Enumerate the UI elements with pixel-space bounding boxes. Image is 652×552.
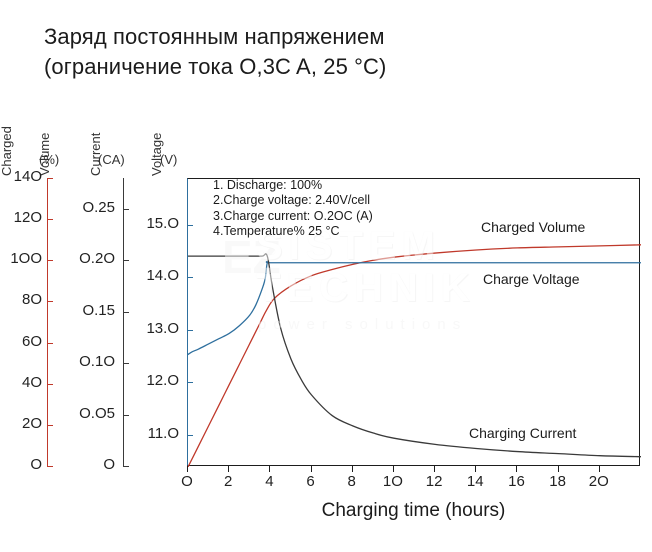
- condition-item-1: 1. Discharge: 100%: [213, 178, 373, 193]
- x-tick-label: 2O: [584, 473, 614, 490]
- y-tick-label-current: O.1O: [60, 353, 115, 370]
- y-tick-label-current: O.15: [60, 302, 115, 319]
- series-label-charge-voltage: Charge Voltage: [483, 271, 580, 287]
- x-tick-label: 16: [501, 473, 531, 490]
- y-tick-charged-volume: [47, 466, 53, 467]
- condition-item-4: 4.Temperature% 25 °C: [213, 224, 373, 239]
- x-tick-label: 14: [460, 473, 490, 490]
- y-tick-charged-volume: [47, 219, 53, 220]
- y-tick-label-charged-volume: O: [0, 456, 42, 473]
- x-tick-label: 4: [254, 473, 284, 490]
- y-tick-label-current: O.25: [60, 199, 115, 216]
- x-tick-label: 18: [543, 473, 573, 490]
- y-axis-line-charged-volume: [47, 178, 48, 466]
- y-tick-label-current: O.2O: [60, 250, 115, 267]
- y-tick-charged-volume: [47, 425, 53, 426]
- y-tick-label-voltage: 12.O: [131, 372, 179, 389]
- x-tick-label: 12: [419, 473, 449, 490]
- y-tick-label-charged-volume: 8O: [0, 291, 42, 308]
- page-title-line-1: Заряд постоянным напряжением: [44, 22, 624, 52]
- y-tick-charged-volume: [47, 301, 53, 302]
- y-tick-label-voltage: 14.O: [131, 267, 179, 284]
- y-tick-label-charged-volume: 12O: [0, 209, 42, 226]
- y-tick-current: [123, 363, 129, 364]
- y-tick-charged-volume: [47, 178, 53, 179]
- y-tick-label-voltage: 11.O: [131, 425, 179, 442]
- x-tick-label: 6: [296, 473, 326, 490]
- y-tick-label-charged-volume: 1OO: [0, 250, 42, 267]
- y-tick-label-charged-volume: 6O: [0, 333, 42, 350]
- y-axis-unit-voltage: (V): [160, 152, 177, 167]
- y-tick-label-charged-volume: 14O: [0, 168, 42, 185]
- y-axis-unit-current: (CA): [98, 152, 125, 167]
- y-tick-current: [123, 415, 129, 416]
- x-tick-label: 8: [337, 473, 367, 490]
- y-tick-label-charged-volume: 4O: [0, 374, 42, 391]
- series-label-charging-current: Charging Current: [469, 425, 576, 441]
- series-label-charged-volume: Charged Volume: [481, 219, 585, 235]
- y-tick-current: [123, 260, 129, 261]
- page-title: Заряд постоянным напряжением (ограничени…: [44, 22, 624, 82]
- x-tick-label: 1O: [378, 473, 408, 490]
- y-tick-label-current: O: [60, 456, 115, 473]
- chart-conditions: 1. Discharge: 100% 2.Charge voltage: 2.4…: [213, 178, 373, 240]
- condition-item-2: 2.Charge voltage: 2.40V/cell: [213, 193, 373, 208]
- y-tick-label-voltage: 15.O: [131, 215, 179, 232]
- x-tick-label: 2: [213, 473, 243, 490]
- y-tick-charged-volume: [47, 384, 53, 385]
- x-axis-title: Charging time (hours): [187, 500, 640, 522]
- y-tick-charged-volume: [47, 260, 53, 261]
- y-axis-unit-volume: (%): [39, 152, 59, 167]
- y-tick-charged-volume: [47, 343, 53, 344]
- y-axis-line-current: [123, 178, 124, 466]
- y-tick-current: [123, 312, 129, 313]
- page-title-line-2: (ограничение тока O,3C A, 25 °C): [44, 52, 624, 82]
- x-tick-label: O: [172, 473, 202, 490]
- y-tick-label-current: O.O5: [60, 405, 115, 422]
- y-tick-label-charged-volume: 2O: [0, 415, 42, 432]
- condition-item-3: 3.Charge current: O.2OC (A): [213, 209, 373, 224]
- y-tick-label-voltage: 13.O: [131, 320, 179, 337]
- y-tick-current: [123, 209, 129, 210]
- y-tick-current: [123, 466, 129, 467]
